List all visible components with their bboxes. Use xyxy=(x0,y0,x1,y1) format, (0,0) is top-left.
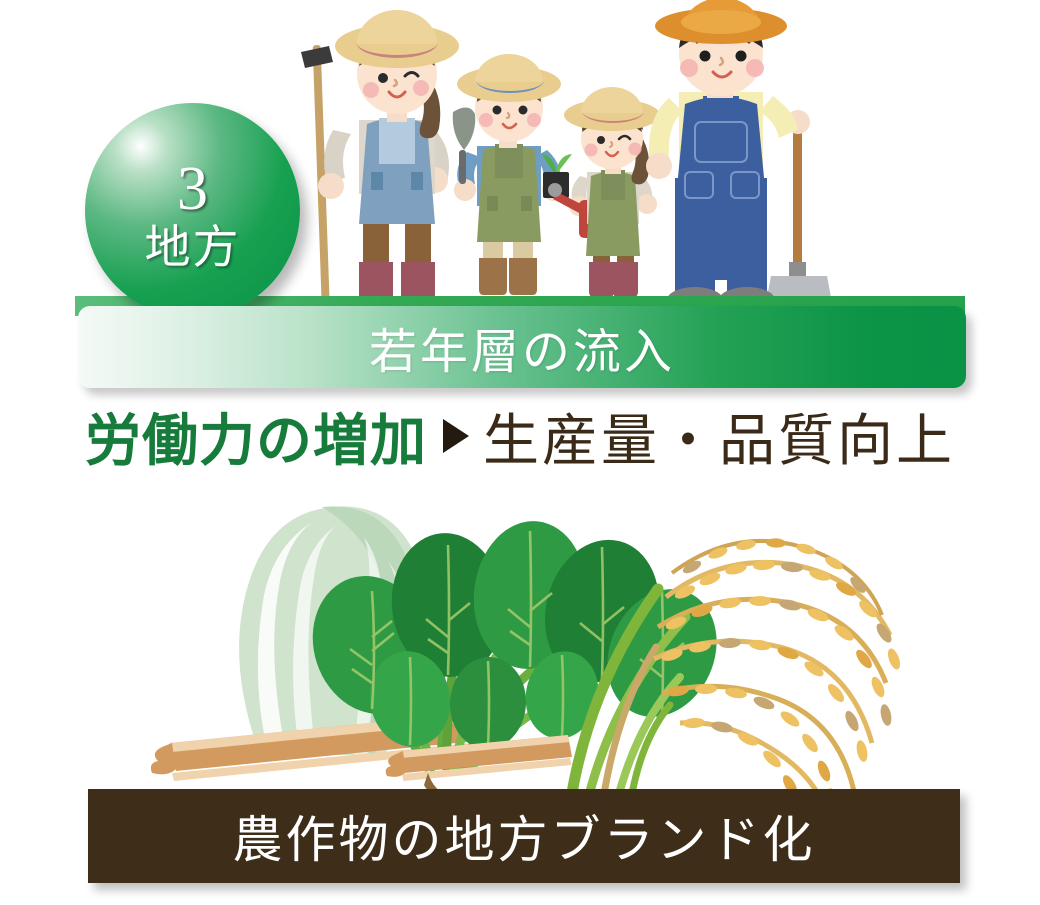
bottom-banner: 農作物の地方ブランド化 xyxy=(88,789,960,883)
step-badge: 3 地方 xyxy=(85,103,300,318)
top-banner-text: 若年層の流入 xyxy=(369,312,675,382)
farmers-illustration xyxy=(255,0,875,312)
infographic-stage: 3 地方 若年層の流入 労働力の増加 生産量・品質向上 xyxy=(0,0,1040,905)
figure-boy-farmer xyxy=(453,54,572,295)
badge-number: 3 xyxy=(177,160,208,219)
top-banner: 若年層の流入 xyxy=(78,306,966,388)
badge-label: 地方 xyxy=(145,225,241,271)
right-triangle-icon xyxy=(443,419,469,453)
crops-illustration xyxy=(110,455,980,810)
figure-woman-farmer xyxy=(301,10,459,304)
figure-man-farmer xyxy=(646,0,833,312)
bottom-banner-text: 農作物の地方ブランド化 xyxy=(233,800,816,872)
